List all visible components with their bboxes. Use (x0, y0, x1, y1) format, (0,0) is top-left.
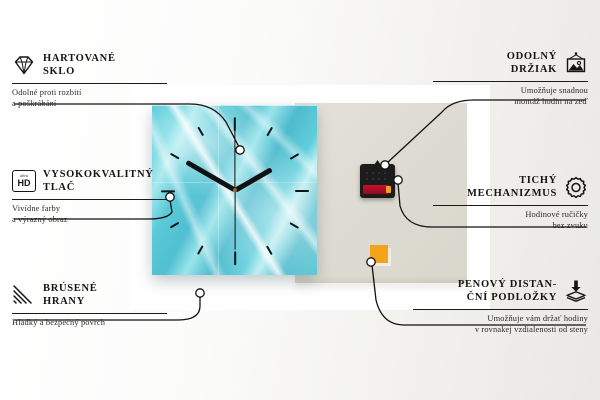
second-hand (234, 190, 235, 250)
hd-label: HD (18, 179, 31, 188)
product-infographic: HARTOVANÉ SKLO Odolné proti rozbití a po… (0, 0, 600, 400)
divider (12, 313, 167, 314)
gear-icon (564, 175, 588, 199)
feature-title: ODOLNÝ DRŽIAK (507, 50, 557, 77)
feature-tempered-glass: HARTOVANÉ SKLO Odolné proti rozbití a po… (12, 52, 167, 109)
clock-mechanism (360, 160, 395, 198)
foam-spacer-pad (370, 245, 388, 263)
ultra-hd-icon: ultra HD (12, 170, 36, 192)
feature-title: VYSOKOKVALITNÝ TLAČ (43, 168, 154, 195)
glass-reflection-vertical (218, 105, 219, 275)
divider (12, 83, 167, 84)
divider (12, 199, 167, 200)
feature-description: Hodinové ručičky bez zvuku (433, 209, 588, 231)
feature-durable-hanger: ODOLNÝ DRŽIAK Umožňuje snadnou montáž ho… (433, 50, 588, 107)
feature-title: BRÚSENÉ HRANY (43, 282, 98, 309)
feature-description: Umožňuje snadnou montáž hodin na zeď (433, 85, 588, 107)
feature-ground-edges: BRÚSENÉ HRANY Hladký a bezpečný povrch (12, 282, 167, 328)
feature-silent-mechanism: TICHÝ MECHANIZMUS Hodinové ručičky bez z… (433, 174, 588, 231)
feature-high-quality-print: ultra HD VYSOKOKVALITNÝ TLAČ Vivídne far… (12, 168, 167, 225)
feature-title: TICHÝ MECHANIZMUS (467, 174, 557, 201)
feature-description: Hladký a bezpečný povrch (12, 317, 167, 328)
feature-description: Vivídne farby a výrazný obraz (12, 203, 167, 225)
feature-title: HARTOVANÉ SKLO (43, 52, 116, 79)
stacked-layers-down-arrow-icon (564, 279, 588, 303)
hanging-frame-icon (564, 51, 588, 75)
feature-title: PENOVÝ DISTAN- ČNÍ PODLOŽKY (458, 278, 557, 305)
divider (413, 309, 588, 310)
mechanism-texture (364, 170, 390, 182)
mechanism-body (360, 164, 395, 198)
feature-description: Odolné proti rozbití a poškrábání (12, 87, 167, 109)
battery (363, 185, 389, 194)
clock-tick (233, 251, 235, 265)
second-hand-tail (234, 128, 235, 190)
diagonal-hatch-icon (12, 283, 36, 307)
feature-foam-spacers: PENOVÝ DISTAN- ČNÍ PODLOŽKY Umožňuje vám… (413, 278, 588, 335)
divider (433, 205, 588, 206)
diamond-icon (12, 53, 36, 77)
feature-description: Umožňuje vám držať hodiny v rovnakej vzd… (413, 313, 588, 335)
wall-clock-face (152, 105, 317, 275)
divider (433, 81, 588, 82)
clock-center-pin (233, 188, 237, 192)
